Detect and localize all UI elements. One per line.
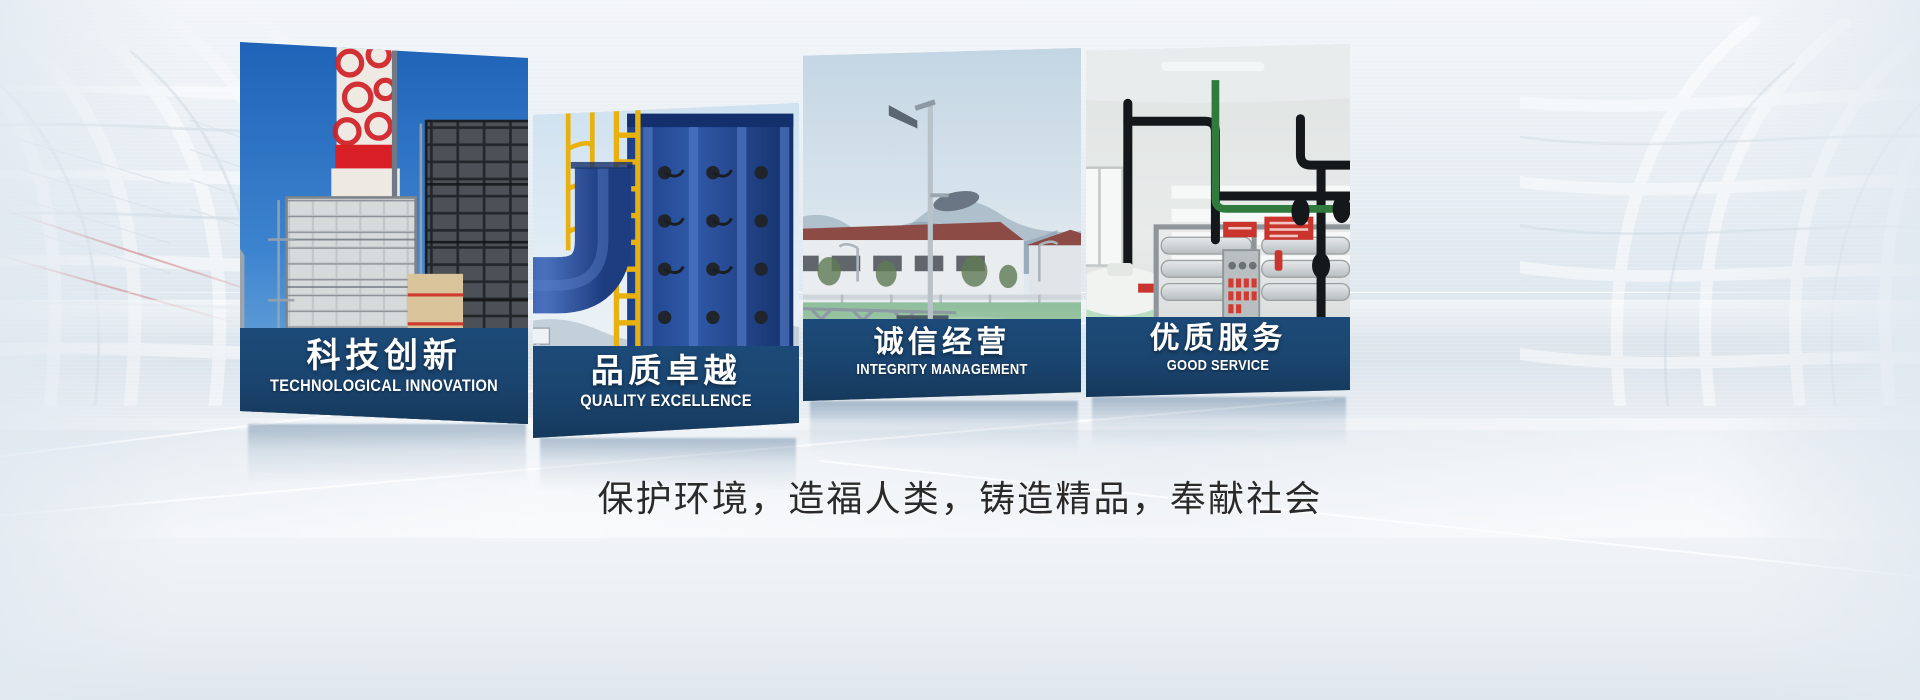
caption-quality-excellence: 品质卓越 QUALITY EXCELLENCE [533,346,799,438]
caption-title-en: GOOD SERVICE [1104,357,1331,374]
caption-title-cn: 优质服务 [1086,323,1350,355]
caption-title-cn: 诚信经营 [803,327,1081,359]
caption-title-en: INTEGRITY MANAGEMENT [822,361,1061,378]
panel-technological-innovation[interactable]: 科技创新 TECHNOLOGICAL INNOVATION [240,42,528,424]
caption-good-service: 优质服务 GOOD SERVICE [1086,317,1350,397]
caption-title-en: QUALITY EXCELLENCE [552,391,781,411]
caption-technological-innovation: 科技创新 TECHNOLOGICAL INNOVATION [240,328,528,424]
panel-group: 科技创新 TECHNOLOGICAL INNOVATION [0,0,1920,700]
caption-title-en: TECHNOLOGICAL INNOVATION [260,376,508,396]
caption-title-cn: 科技创新 [240,338,528,374]
caption-integrity-management: 诚信经营 INTEGRITY MANAGEMENT [803,319,1081,401]
panel-reflection-4 [1092,397,1346,447]
panel-good-service[interactable]: 优质服务 GOOD SERVICE [1086,44,1350,397]
banner-stage: 科技创新 TECHNOLOGICAL INNOVATION [0,0,1920,700]
panel-quality-excellence[interactable]: 品质卓越 QUALITY EXCELLENCE [533,103,799,438]
caption-title-cn: 品质卓越 [533,354,799,389]
panel-integrity-management[interactable]: 诚信经营 INTEGRITY MANAGEMENT [803,48,1081,401]
panel-reflection-3 [810,401,1078,453]
banner-tagline: 保护环境，造福人类，铸造精品，奉献社会 [0,470,1920,522]
